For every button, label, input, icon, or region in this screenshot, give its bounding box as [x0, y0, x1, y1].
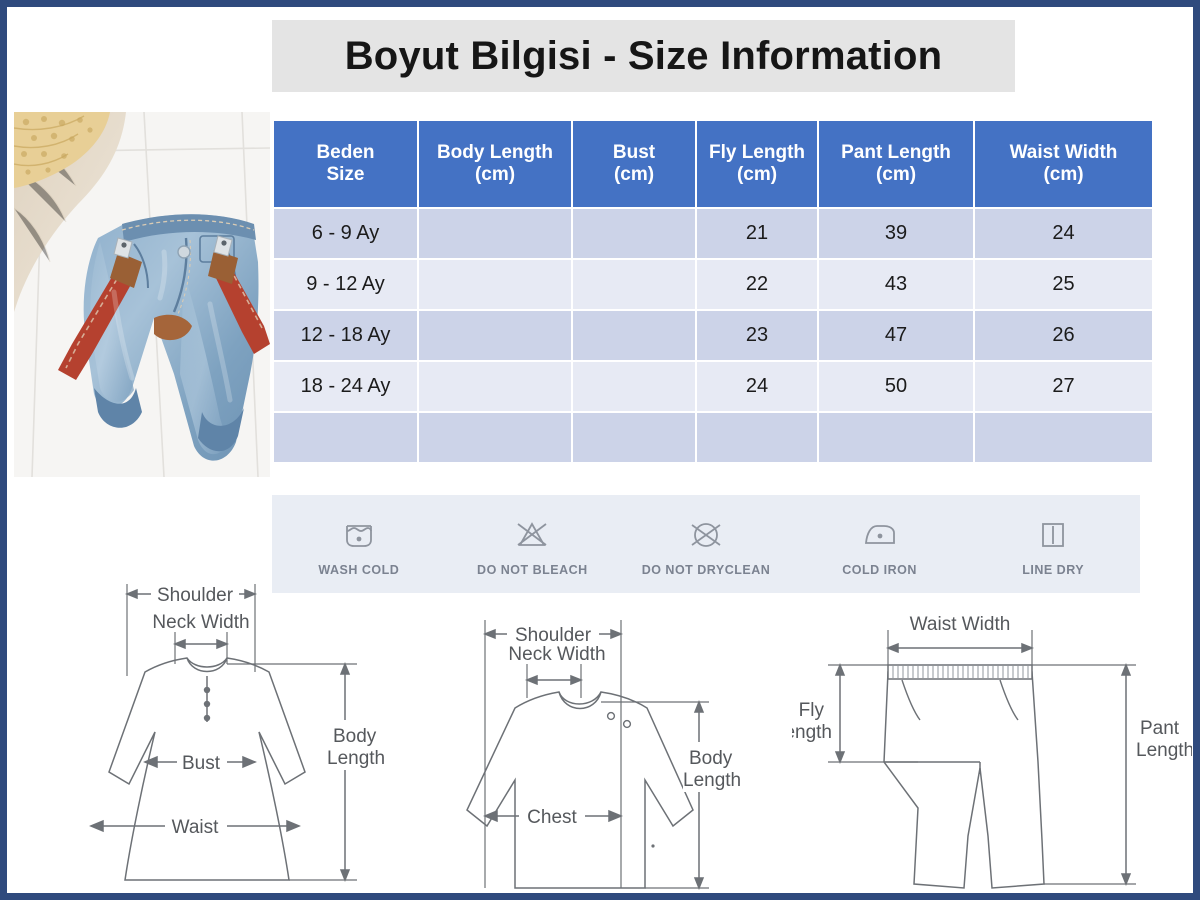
cell-bust — [573, 209, 695, 258]
pants-label-pant-length-2: Length — [1136, 740, 1192, 761]
header-line-2: (cm) — [737, 164, 777, 185]
care-label: DO NOT DRYCLEAN — [642, 563, 771, 577]
cell-waist-width: 24 — [975, 209, 1152, 258]
dress-label-neck-width: Neck Width — [152, 612, 249, 633]
cell-size: 12 - 18 Ay — [274, 311, 417, 360]
header-line-2: (cm) — [614, 164, 654, 185]
header-line-1: Beden — [316, 142, 374, 163]
cell-body-length — [419, 209, 571, 258]
product-photo — [14, 112, 270, 477]
wash-cold-icon — [342, 512, 376, 558]
column-header-size: Beden Size — [274, 121, 417, 207]
do-not-bleach-icon — [514, 512, 550, 558]
pants-label-fly-length-1: Fly — [799, 700, 825, 721]
cell-waist-width: 26 — [975, 311, 1152, 360]
cell-body-length — [419, 311, 571, 360]
header-line-1: Fly Length — [709, 142, 805, 163]
cell-pant-length — [819, 413, 973, 462]
cell-body-length — [419, 362, 571, 411]
cell-pant-length: 47 — [819, 311, 973, 360]
top-label-body-length-1: Body — [689, 748, 733, 769]
dress-label-body-length-1: Body — [333, 726, 377, 747]
header-line-2: (cm) — [475, 164, 515, 185]
header-line-2: (cm) — [876, 164, 916, 185]
care-item-line-dry: LINE DRY — [971, 512, 1136, 577]
care-item-do-not-bleach: DO NOT BLEACH — [450, 512, 615, 577]
do-not-dryclean-icon — [689, 512, 723, 558]
dress-label-body-length-2: Length — [327, 748, 385, 769]
column-header-waist-width: Waist Width (cm) — [975, 121, 1152, 207]
header-line-2: (cm) — [1043, 164, 1083, 185]
top-label-body-length-2: Length — [683, 770, 741, 791]
cell-body-length — [419, 413, 571, 462]
size-information-page: Boyut Bilgisi - Size Information — [0, 0, 1200, 900]
care-item-wash-cold: WASH COLD — [276, 512, 441, 577]
care-label: DO NOT BLEACH — [477, 563, 588, 577]
size-table: Beden Size Body Length (cm) Bust (cm) Fl… — [272, 119, 1154, 464]
cell-fly-length — [697, 413, 817, 462]
care-label: LINE DRY — [1022, 563, 1084, 577]
header-line-2: Size — [326, 164, 364, 185]
dress-label-waist: Waist — [172, 817, 220, 838]
dress-measurement-diagram: Shoulder Neck Width Bust — [27, 572, 417, 897]
cell-waist-width: 25 — [975, 260, 1152, 309]
header-line-1: Body Length — [437, 142, 553, 163]
cell-fly-length: 22 — [697, 260, 817, 309]
column-header-bust: Bust (cm) — [573, 121, 695, 207]
page-title: Boyut Bilgisi - Size Information — [345, 34, 943, 79]
table-row — [274, 413, 1152, 462]
header-line-1: Bust — [613, 142, 655, 163]
column-header-body-length: Body Length (cm) — [419, 121, 571, 207]
care-label: COLD IRON — [842, 563, 917, 577]
cell-bust — [573, 362, 695, 411]
cell-bust — [573, 413, 695, 462]
cell-size: 9 - 12 Ay — [274, 260, 417, 309]
care-item-cold-iron: COLD IRON — [797, 512, 962, 577]
table-row: 12 - 18 Ay 23 47 26 — [274, 311, 1152, 360]
cell-fly-length: 21 — [697, 209, 817, 258]
column-header-fly-length: Fly Length (cm) — [697, 121, 817, 207]
cell-bust — [573, 311, 695, 360]
dress-label-bust: Bust — [182, 753, 221, 774]
cell-pant-length: 43 — [819, 260, 973, 309]
pants-label-waist-width: Waist Width — [910, 614, 1011, 635]
cell-waist-width: 27 — [975, 362, 1152, 411]
pants-measurement-diagram: Waist Width Fly Length Pant Length — [792, 602, 1192, 897]
cell-size: 18 - 24 Ay — [274, 362, 417, 411]
cold-iron-icon — [862, 512, 898, 558]
cell-size: 6 - 9 Ay — [274, 209, 417, 258]
pants-label-fly-length-2: Length — [792, 722, 832, 743]
top-label-shoulder: Shoulder — [515, 625, 592, 646]
top-label-chest: Chest — [527, 807, 577, 828]
cell-waist-width — [975, 413, 1152, 462]
column-header-pant-length: Pant Length (cm) — [819, 121, 973, 207]
table-row: 6 - 9 Ay 21 39 24 — [274, 209, 1152, 258]
cell-fly-length: 24 — [697, 362, 817, 411]
top-label-neck-width: Neck Width — [508, 644, 605, 665]
dress-label-shoulder: Shoulder — [157, 585, 234, 606]
cell-bust — [573, 260, 695, 309]
top-measurement-diagram: Shoulder Neck Width Chest — [407, 602, 787, 897]
header-line-1: Waist Width — [1010, 142, 1118, 163]
care-item-do-not-dryclean: DO NOT DRYCLEAN — [623, 512, 788, 577]
pants-label-pant-length-1: Pant — [1140, 718, 1180, 739]
page-title-bar: Boyut Bilgisi - Size Information — [272, 20, 1015, 92]
table-row: 9 - 12 Ay 22 43 25 — [274, 260, 1152, 309]
line-dry-icon — [1039, 512, 1067, 558]
cell-pant-length: 50 — [819, 362, 973, 411]
table-header-row: Beden Size Body Length (cm) Bust (cm) Fl… — [274, 121, 1152, 207]
cell-body-length — [419, 260, 571, 309]
cell-fly-length: 23 — [697, 311, 817, 360]
cell-size — [274, 413, 417, 462]
table-row: 18 - 24 Ay 24 50 27 — [274, 362, 1152, 411]
header-line-1: Pant Length — [841, 142, 951, 163]
cell-pant-length: 39 — [819, 209, 973, 258]
